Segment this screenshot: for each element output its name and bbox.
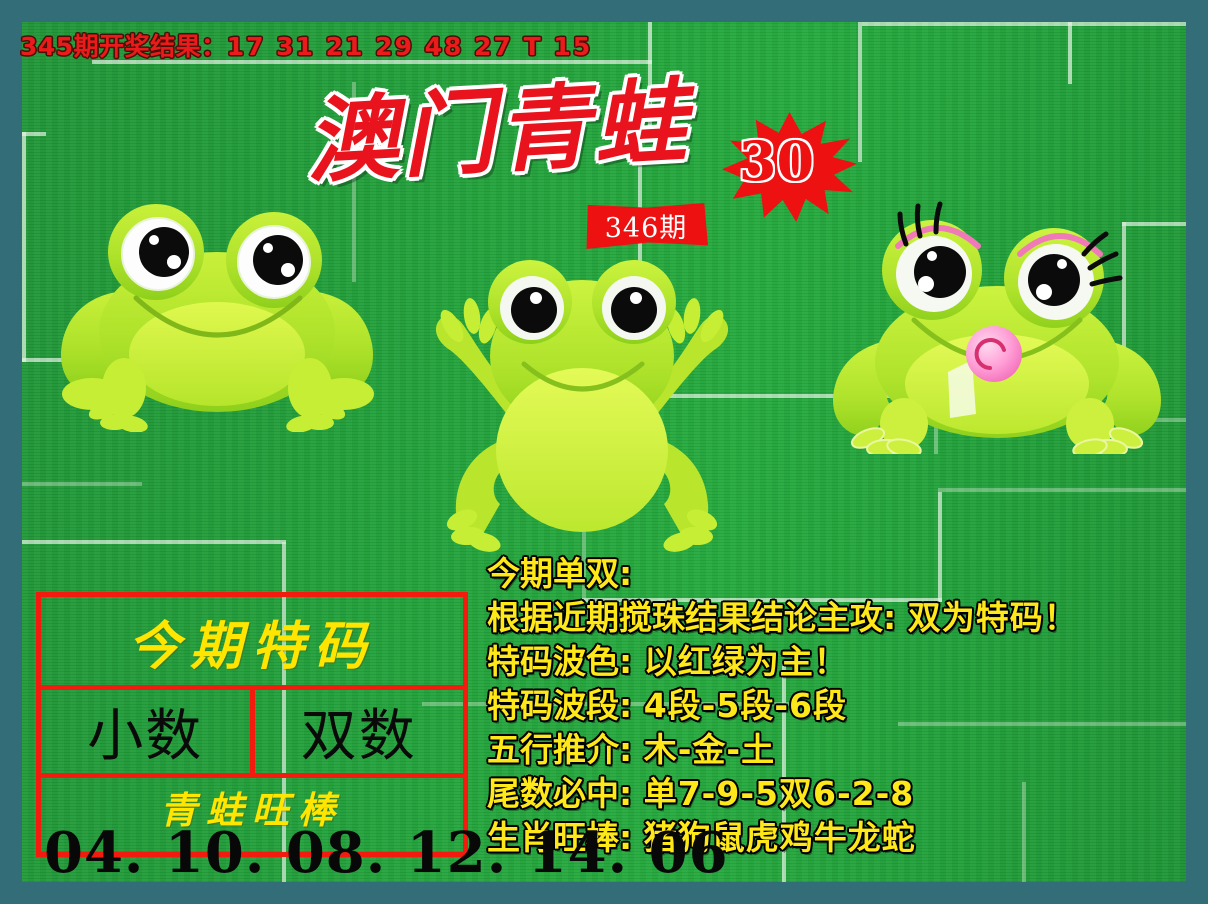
pitch-line (938, 488, 1186, 492)
info-line: 尾数必中: 单7-9-5双6-2-8 (487, 772, 1187, 816)
draw-result-numbers: 17 31 21 29 48 27 T 15 (227, 32, 593, 61)
table-heading-label: 今期特码 (128, 604, 376, 679)
pitch-line (858, 22, 862, 162)
issue-banner-label: 346期 (605, 206, 688, 245)
pitch-line (862, 22, 1186, 26)
info-line-value: 单7-9-5双6-2-8 (644, 774, 915, 813)
info-line-value: 4段-5段-6段 (644, 686, 847, 725)
pitch-line (22, 482, 142, 486)
table-cell-left-label: 小数 (87, 691, 203, 772)
prediction-info-block: 今期单双: 根据近期搅珠结果结论主攻: 双为特码！ 特码波色: 以红绿为主！ 特… (487, 552, 1187, 860)
table-cell-left: 小数 (41, 690, 255, 773)
info-line: 根据近期搅珠结果结论主攻: 双为特码！ (487, 596, 1187, 640)
pitch-line (22, 132, 26, 362)
frog-left (52, 172, 382, 432)
table-cell-right-label: 双数 (301, 691, 417, 772)
frog-right (822, 192, 1172, 454)
issue-banner: 346期 (584, 203, 708, 249)
info-line-key: 根据近期搅珠结果结论主攻: (487, 598, 896, 637)
info-line-key: 五行推介: (487, 730, 632, 769)
info-line-value: 双为特码！ (908, 598, 1078, 637)
poster-canvas: 345期开奖结果：17 31 21 29 48 27 T 15 澳门青蛙 30 … (0, 0, 1208, 904)
page-title: 澳门青蛙 (303, 75, 692, 188)
info-line-key: 尾数必中: (487, 774, 632, 813)
pitch-line (1068, 22, 1072, 84)
info-line: 特码波色: 以红绿为主！ (487, 640, 1187, 684)
info-line: 五行推介: 木-金-土 (487, 728, 1187, 772)
starburst-badge: 30 (722, 112, 857, 222)
frog-center (422, 254, 742, 564)
info-line: 今期单双: (487, 552, 1187, 596)
info-line-value: 木-金-土 (644, 730, 775, 769)
info-line-value: 以红绿为主！ (644, 642, 848, 681)
info-line-key: 特码波段: (487, 686, 632, 725)
draw-result-line: 345期开奖结果：17 31 21 29 48 27 T 15 (20, 27, 592, 63)
info-line: 特码波段: 4段-5段-6段 (487, 684, 1187, 728)
lucky-numbers: 04. 10. 08. 12. 14. 06 (44, 820, 729, 886)
info-line-key: 今期单双: (487, 554, 632, 593)
special-code-table: 今期特码 小数 双数 青蛙旺棒 (36, 592, 468, 857)
table-value-row: 小数 双数 (41, 690, 463, 778)
info-line-key: 特码波色: (487, 642, 632, 681)
table-cell-right: 双数 (255, 690, 464, 773)
draw-result-label: 345期开奖结果： (20, 32, 227, 61)
starburst-number: 30 (709, 106, 844, 216)
pitch-line (22, 540, 286, 544)
table-heading-row: 今期特码 (41, 597, 463, 690)
